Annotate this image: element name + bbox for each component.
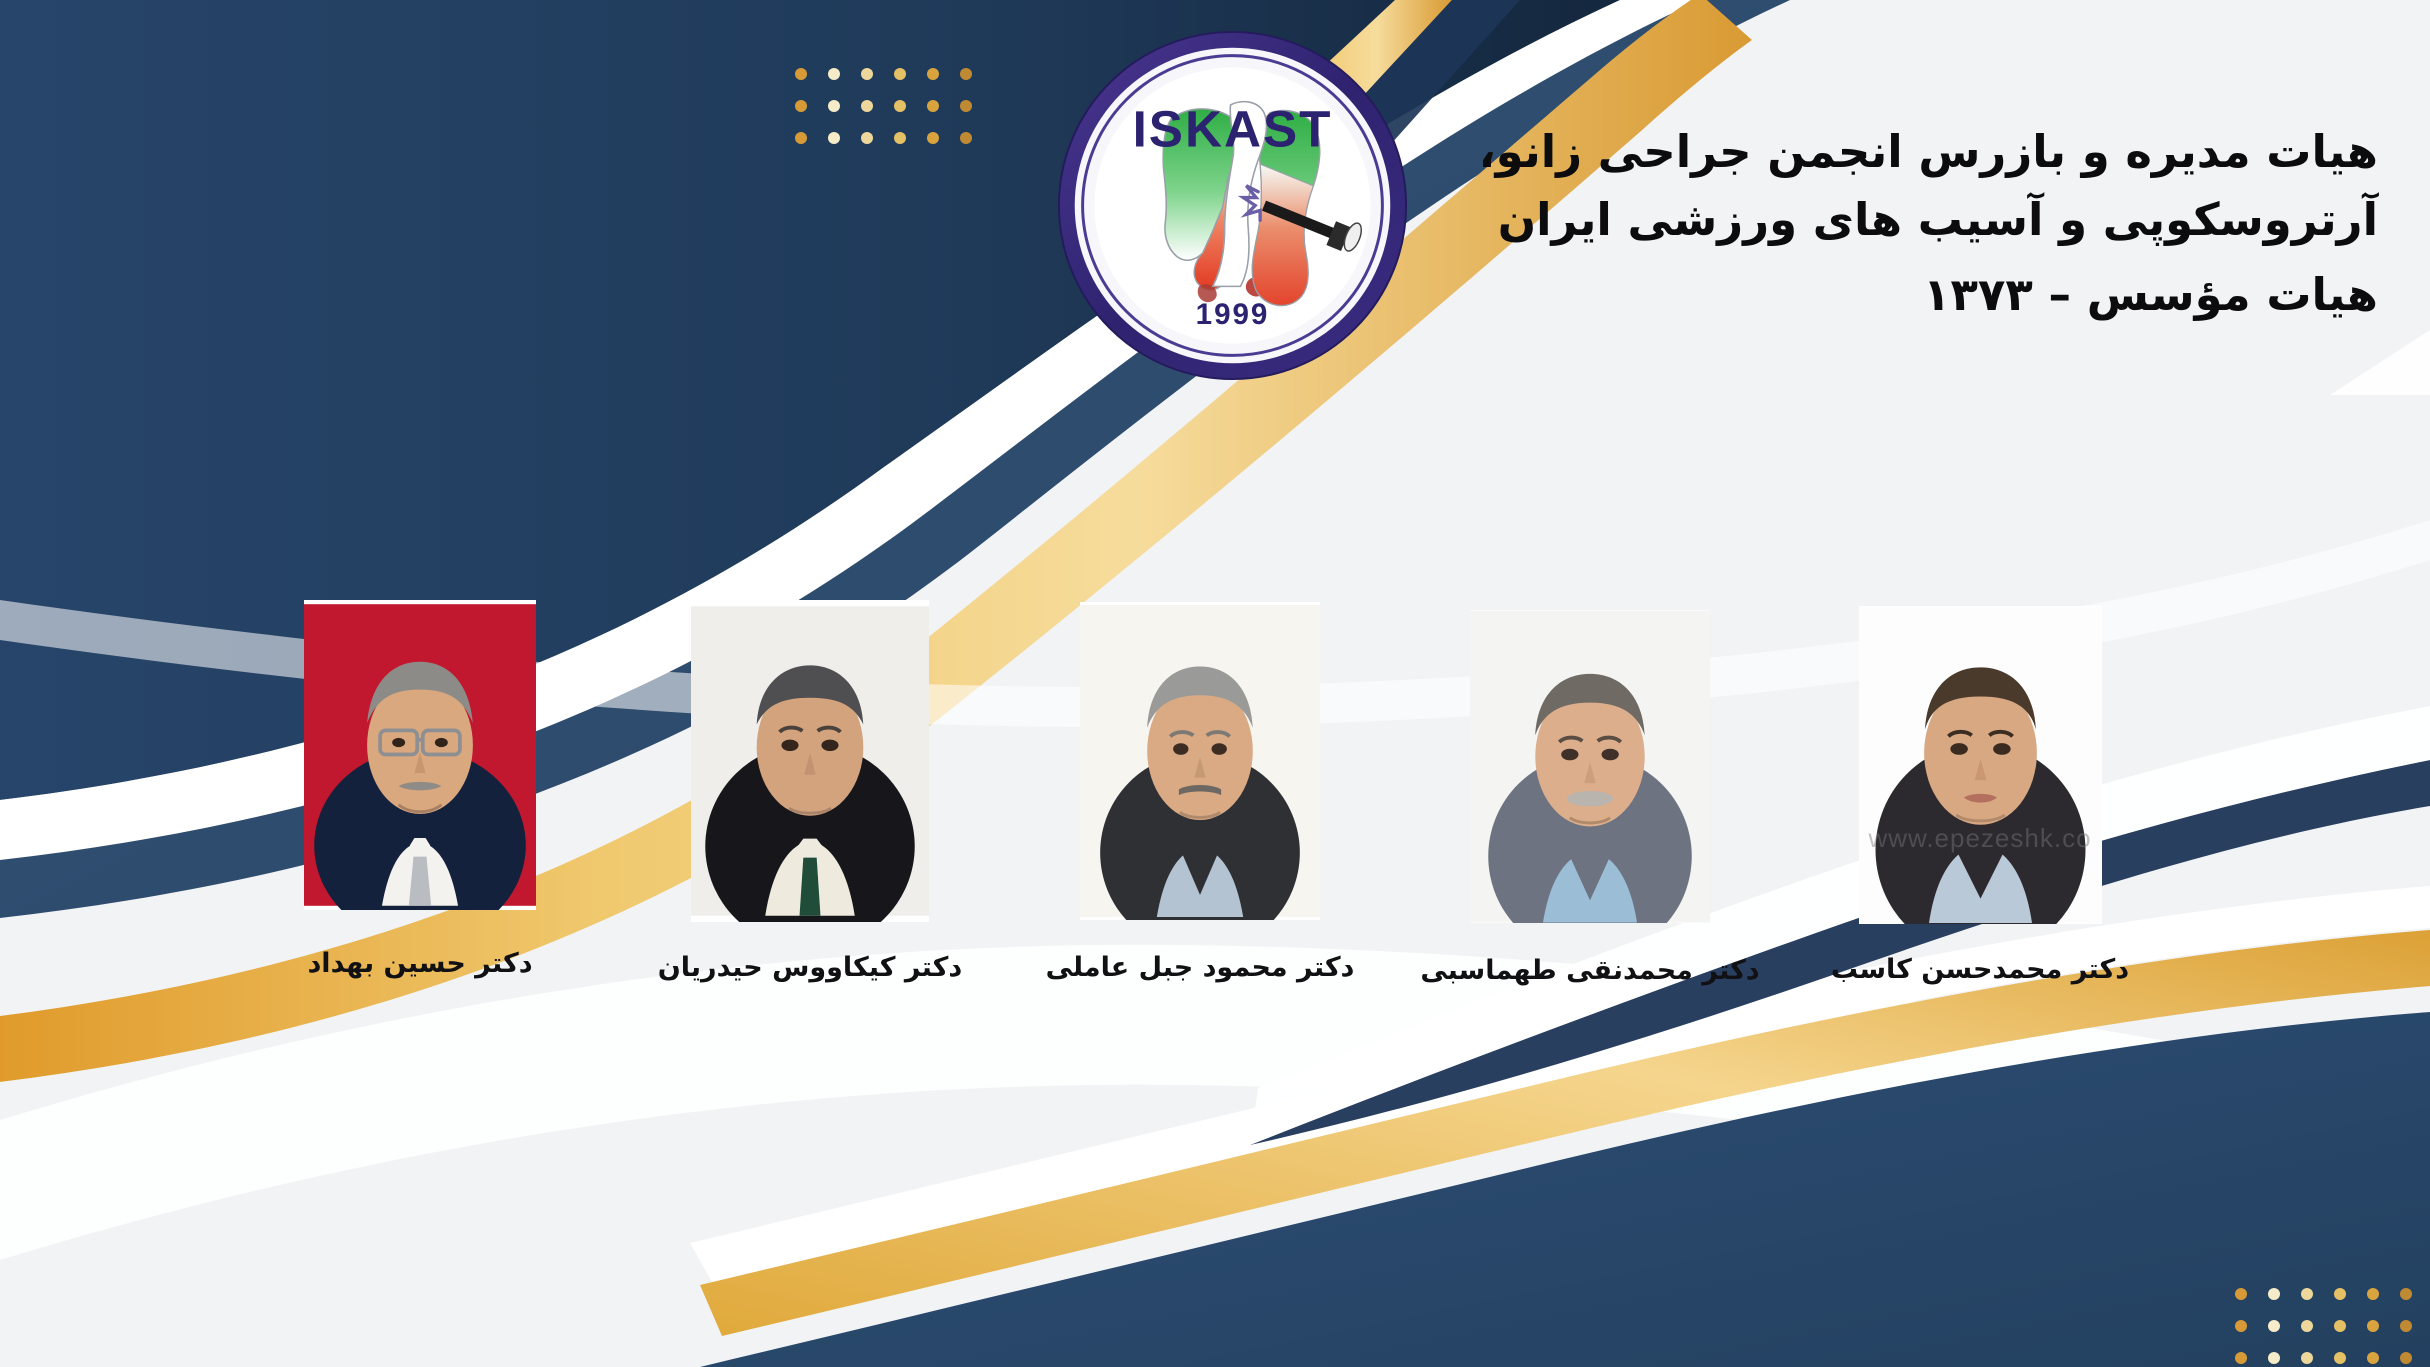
dot [2301,1320,2313,1332]
board-member: دکتر محمود جبل عاملی [1068,602,1333,983]
dot [828,100,840,112]
title-line-3: هیات مؤسس – ۱۳۷۳ [1578,261,2378,329]
dot-grid-bottom-right [2235,1288,2412,1364]
dot [828,132,840,144]
dot [2334,1352,2346,1364]
member-photo [1080,602,1320,920]
portrait-4 [691,600,929,922]
dot [960,132,972,144]
dot [2235,1352,2247,1364]
dot [894,100,906,112]
dot [2400,1352,2412,1364]
dot [861,132,873,144]
member-name: دکتر محمدنقی طهماسبی [1420,955,1759,986]
member-photo: www.epezeshk.co [1859,606,2102,924]
dot [2235,1320,2247,1332]
dot [894,132,906,144]
dot [2268,1352,2280,1364]
logo-year: 1999 [1196,298,1270,331]
dot [2268,1288,2280,1300]
member-photo [1470,610,1710,923]
dot [960,100,972,112]
member-name: دکتر کیکاووس حیدریان [658,952,963,983]
board-member: دکتر محمدنقی طهماسبی [1458,610,1723,986]
member-name: دکتر محمدحسن کاسب [1831,954,2129,985]
member-name: دکتر محمود جبل عاملی [1046,952,1355,983]
title-line-1: هیات مدیره و بازرس انجمن جراحی زانو، [1578,118,2378,186]
dot [795,68,807,80]
board-member: دکتر کیکاووس حیدریان [678,600,943,983]
dot [2400,1288,2412,1300]
dot [861,100,873,112]
board-members-row: www.epezeshk.co دکتر محمدحسن کاسب [0,600,2430,986]
dot [927,68,939,80]
dot [927,100,939,112]
dot [2367,1320,2379,1332]
dot [2367,1352,2379,1364]
iskast-logo-icon: IRANIAN SOCIETY OF KNEE SURGERY ARTHROSC… [1055,28,1410,383]
portrait-2 [1470,610,1710,923]
title-line-2: آرتروسکوپی و آسیب های ورزشی ایران [1578,186,2378,254]
member-photo [691,600,929,922]
dot [960,68,972,80]
member-photo [304,600,536,910]
dot [2334,1320,2346,1332]
dot [2400,1320,2412,1332]
dot [2268,1320,2280,1332]
dot [795,100,807,112]
slide-title: هیات مدیره و بازرس انجمن جراحی زانو، آرت… [1578,118,2378,329]
dot [795,132,807,144]
dot [2301,1352,2313,1364]
board-member: www.epezeshk.co دکتر محمدحسن کاسب [1848,606,2113,985]
board-member: دکتر حسین بهداد [288,600,553,979]
dot [927,132,939,144]
dot [2235,1288,2247,1300]
dot [2301,1288,2313,1300]
dot [2334,1288,2346,1300]
member-name: دکتر حسین بهداد [307,948,532,979]
dot [2367,1288,2379,1300]
portrait-5 [304,600,536,910]
dot [861,68,873,80]
dot-grid-top-left [795,68,972,144]
portrait-1 [1859,606,2102,924]
portrait-3 [1080,602,1320,920]
dot [828,68,840,80]
presentation-slide: IRANIAN SOCIETY OF KNEE SURGERY ARTHROSC… [0,0,2430,1367]
dot [894,68,906,80]
logo-acronym: ISKAST [1133,100,1333,157]
iskast-logo: IRANIAN SOCIETY OF KNEE SURGERY ARTHROSC… [1055,28,1410,383]
